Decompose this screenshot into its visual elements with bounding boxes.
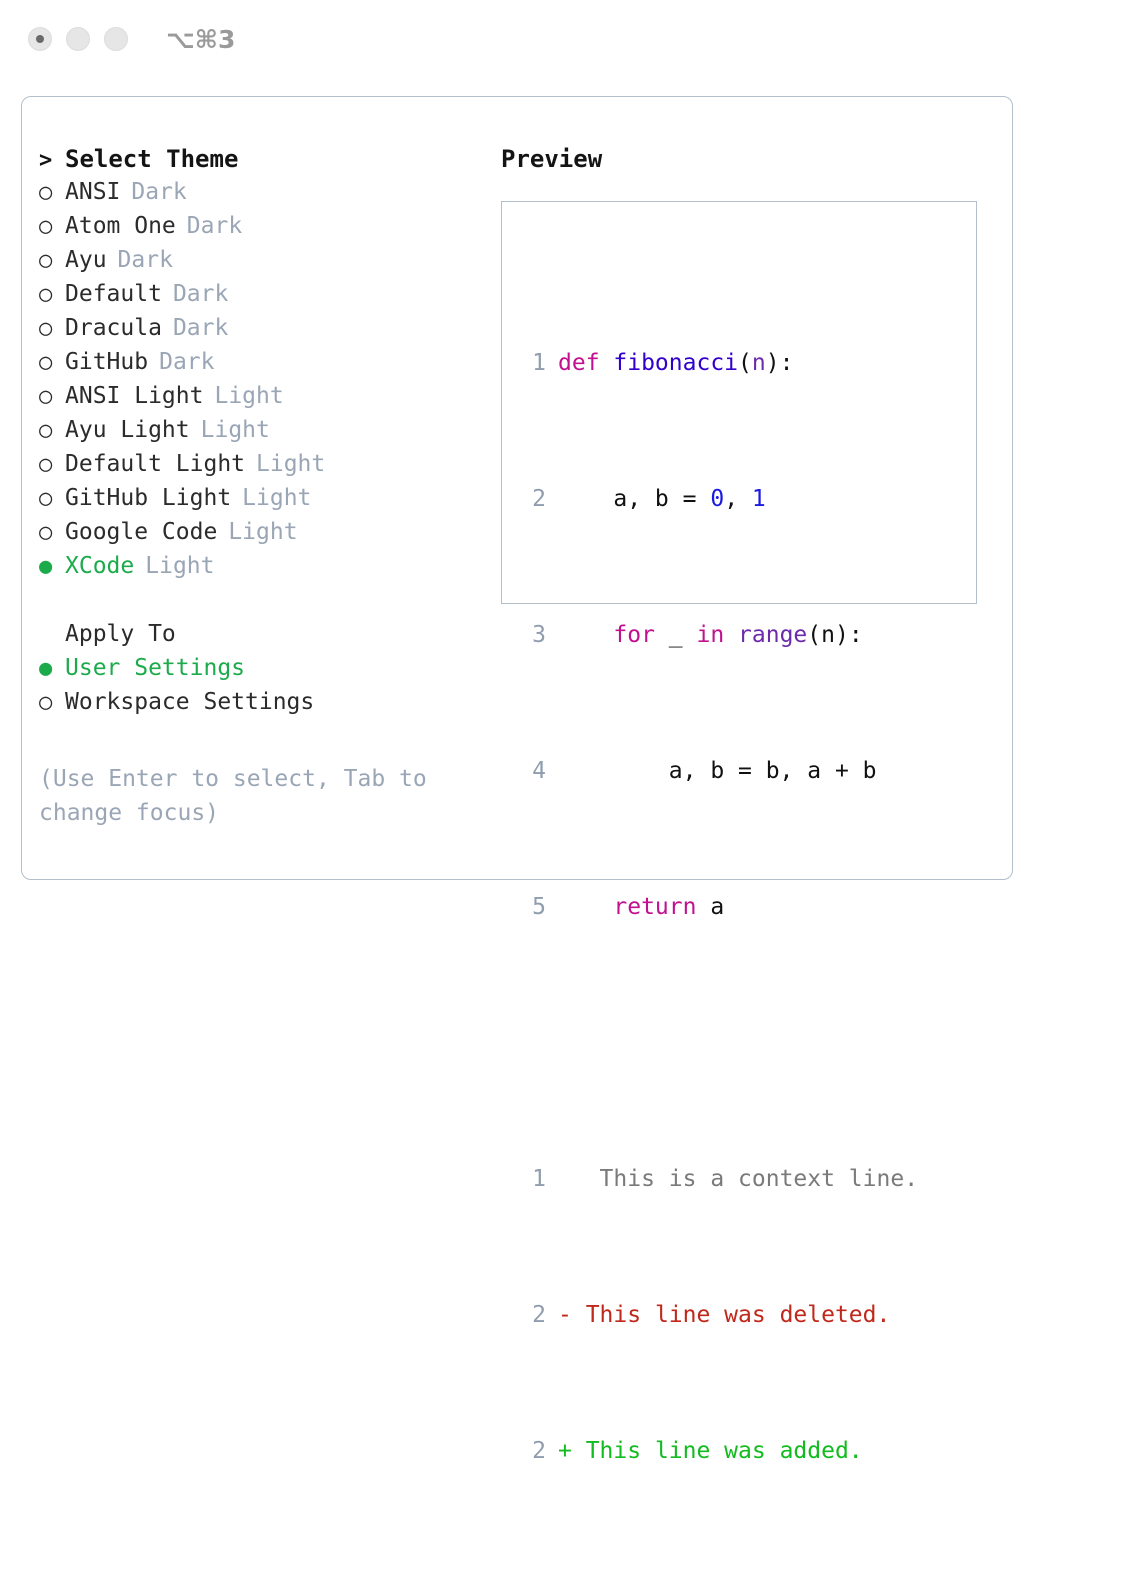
window-dot-third-icon[interactable] [104,27,128,51]
token-plain: ): [766,350,794,376]
radio-icon: ○ [39,384,65,409]
radio-icon: ○ [39,316,65,341]
theme-option-ansi[interactable]: ○ ANSI Dark [39,179,489,213]
line-number: 1 [516,1162,546,1196]
code-content: return a [558,890,724,924]
theme-name: Default [65,281,162,307]
theme-option-ayu[interactable]: ○ Ayu Dark [39,247,489,281]
theme-option-ayu-light[interactable]: ○ Ayu Light Light [39,417,489,451]
radio-icon: ○ [39,180,65,205]
code-line: 2 a, b = 0, 1 [516,482,970,516]
theme-option-atom-one[interactable]: ○ Atom One Dark [39,213,489,247]
theme-name: GitHub [65,349,148,375]
code-line: 5 return a [516,890,970,924]
theme-name: ANSI Light [65,383,203,409]
token-number: 0 [710,486,724,512]
token-plain: a, b = b, a + b [558,758,877,784]
apply-to-title: Apply To [65,621,176,647]
theme-name: Ayu [65,247,107,273]
keyboard-hint-text: (Use Enter to select, Tab to change focu… [39,762,459,830]
token-keyword: for [613,622,655,648]
token-keyword: def [558,350,613,376]
token-keyword: return [613,894,696,920]
title-bar: ⌥⌘3 [0,0,1140,78]
line-number: 4 [516,754,546,788]
diff-marker: + [558,1434,572,1468]
theme-name: GitHub Light [65,485,231,511]
code-content: a, b = 0, 1 [558,482,766,516]
theme-option-ansi-light[interactable]: ○ ANSI Light Light [39,383,489,417]
token-builtin: range [738,622,807,648]
theme-kind: Light [145,553,214,579]
apply-to-option-label: User Settings [65,655,245,681]
token-plain: (n): [807,622,862,648]
code-content: for _ in range(n): [558,618,863,652]
theme-name: Default Light [65,451,245,477]
diff-content: This line was deleted. [572,1298,891,1332]
radio-icon: ○ [39,452,65,477]
preview-title: Preview [501,145,1001,173]
theme-kind: Dark [159,349,214,375]
radio-selected-icon: ● [39,656,65,681]
theme-name: ANSI [65,179,120,205]
theme-kind: Light [214,383,283,409]
apply-to-option-workspace-settings[interactable]: ○ Workspace Settings [39,689,489,723]
theme-name: Dracula [65,315,162,341]
theme-kind: Dark [118,247,173,273]
theme-name: Atom One [65,213,176,239]
theme-kind: Dark [187,213,242,239]
app-window: ⌥⌘3 > Select Theme ○ ANSI Dark ○ Atom On… [0,0,1140,934]
window-dot-second-icon[interactable] [66,27,90,51]
window-dot-inner [36,35,44,43]
code-line: 4 a, b = b, a + b [516,754,970,788]
diff-content: This line was added. [572,1434,863,1468]
theme-name: Google Code [65,519,217,545]
code-line: 1 def fibonacci(n): [516,346,970,380]
theme-option-xcode[interactable]: ● XCode Light [39,553,489,587]
diff-content: This is a context line. [572,1162,918,1196]
diff-marker: - [558,1298,572,1332]
token-plain: a, b = [558,486,710,512]
preview-column: Preview 1 def fibonacci(n): 2 a, b = 0, … [501,145,1001,604]
theme-kind: Light [242,485,311,511]
radio-icon: ○ [39,282,65,307]
radio-icon: ○ [39,486,65,511]
line-number: 2 [516,1434,546,1468]
radio-icon: ○ [39,418,65,443]
token-number: 1 [752,486,766,512]
prompt-caret-icon: > [39,148,65,173]
radio-icon: ○ [39,350,65,375]
theme-kind: Dark [131,179,186,205]
token-function: fibonacci [613,350,738,376]
diff-line-context: 1 This is a context line. [516,1162,970,1196]
radio-icon: ○ [39,248,65,273]
diff-line-deleted: 2 - This line was deleted. [516,1298,970,1332]
radio-icon: ○ [39,690,65,715]
line-number: 1 [516,346,546,380]
token-plain: a [696,894,724,920]
code-content: def fibonacci(n): [558,346,793,380]
code-blank-line [516,1026,970,1060]
token-plain [558,622,613,648]
theme-option-dracula[interactable]: ○ Dracula Dark [39,315,489,349]
theme-kind: Light [228,519,297,545]
apply-to-heading: Apply To [39,621,489,655]
token-plain: _ [655,622,697,648]
theme-kind: Dark [173,315,228,341]
line-number: 2 [516,1298,546,1332]
theme-kind: Light [256,451,325,477]
line-number: 5 [516,890,546,924]
theme-option-default-light[interactable]: ○ Default Light Light [39,451,489,485]
diff-marker [558,1162,572,1196]
diff-line-added: 2 + This line was added. [516,1434,970,1468]
apply-to-option-label: Workspace Settings [65,689,314,715]
token-plain [724,622,738,648]
theme-name: XCode [65,553,134,579]
token-keyword: in [696,622,724,648]
list-spacer [39,587,489,621]
theme-picker-column: > Select Theme ○ ANSI Dark ○ Atom One Da… [39,145,489,723]
window-controls [28,27,128,51]
radio-icon: ○ [39,214,65,239]
select-theme-heading: > Select Theme [39,145,489,179]
theme-name: Ayu Light [65,417,190,443]
line-number: 2 [516,482,546,516]
code-sample: 1 def fibonacci(n): 2 a, b = 0, 1 3 for … [516,244,970,1570]
token-param: n [752,350,766,376]
keyboard-shortcut-label: ⌥⌘3 [166,25,235,54]
preview-box: 1 def fibonacci(n): 2 a, b = 0, 1 3 for … [501,201,977,604]
radio-selected-icon: ● [39,554,65,579]
theme-option-github-light[interactable]: ○ GitHub Light Light [39,485,489,519]
token-plain: , [724,486,752,512]
radio-icon: ○ [39,520,65,545]
theme-option-google-code[interactable]: ○ Google Code Light [39,519,489,553]
theme-kind: Dark [173,281,228,307]
theme-option-default[interactable]: ○ Default Dark [39,281,489,315]
code-content: a, b = b, a + b [558,754,877,788]
code-line: 3 for _ in range(n): [516,618,970,652]
theme-option-github[interactable]: ○ GitHub Dark [39,349,489,383]
apply-to-option-user-settings[interactable]: ● User Settings [39,655,489,689]
line-number: 3 [516,618,546,652]
main-panel: > Select Theme ○ ANSI Dark ○ Atom One Da… [21,96,1013,880]
window-dot-active-icon[interactable] [28,27,52,51]
token-plain [558,894,613,920]
token-plain: ( [738,350,752,376]
theme-kind: Light [201,417,270,443]
select-theme-title: Select Theme [65,145,238,173]
